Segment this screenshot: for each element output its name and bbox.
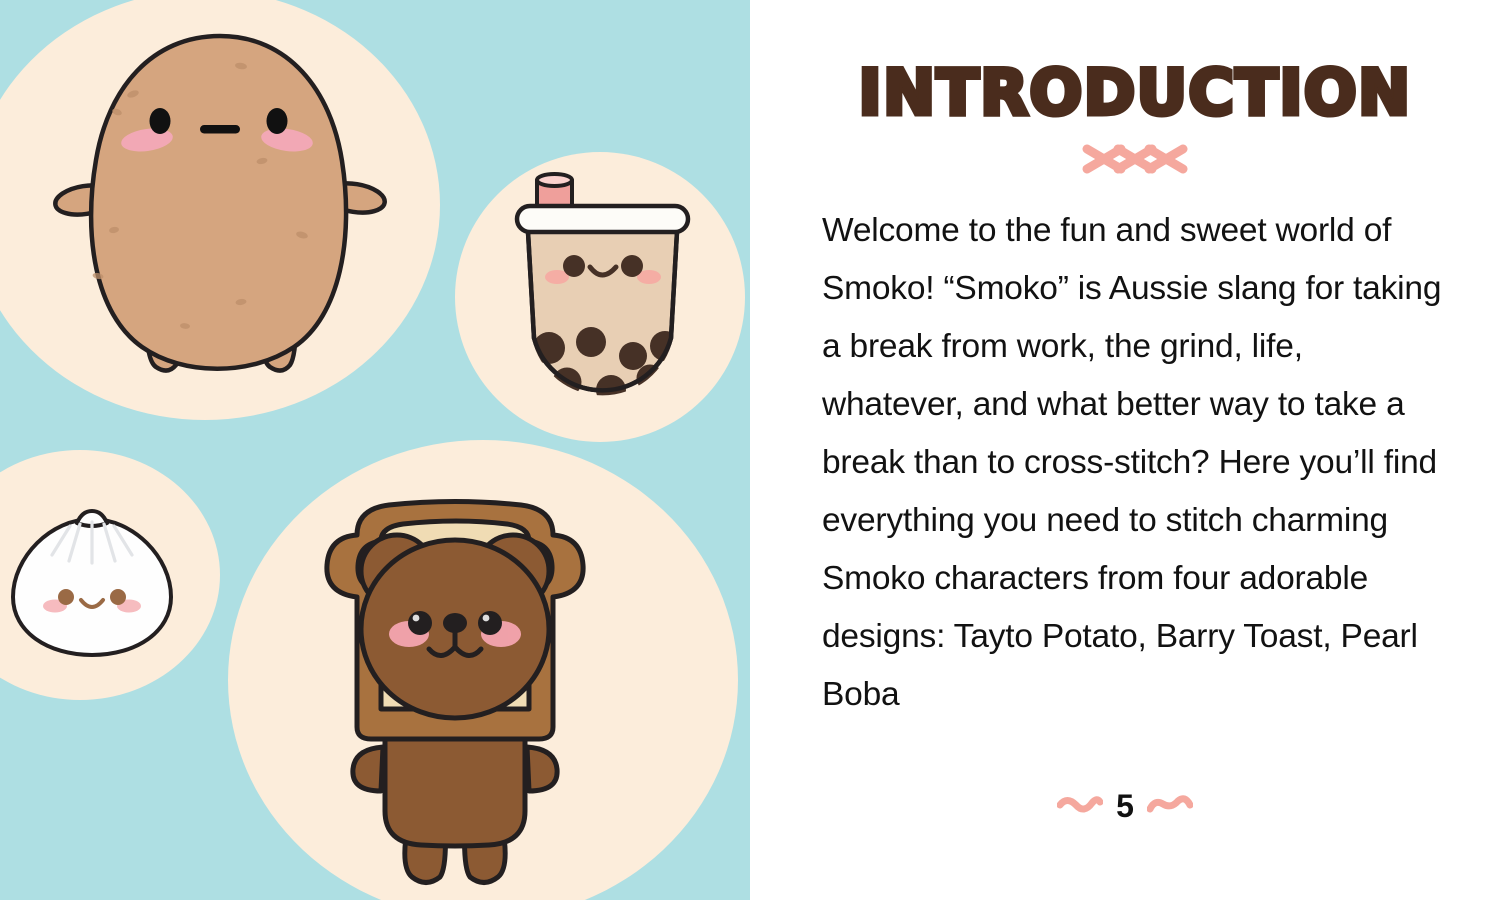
potato-character-icon (55, 30, 385, 400)
page-title: INTRODUCTION (822, 62, 1448, 124)
left-squiggle-icon (1057, 795, 1103, 817)
cross-stitch-xxx-motif-icon (1080, 142, 1190, 176)
introduction-paragraph: Welcome to the fun and sweet world of Sm… (822, 202, 1448, 724)
boba-tea-character-icon (505, 170, 700, 420)
page-number: 5 (1116, 790, 1134, 822)
toast-bear-character-icon (305, 495, 605, 885)
page-footer: 5 (750, 790, 1500, 822)
dumpling-character-icon (5, 505, 180, 660)
right-squiggle-icon (1147, 795, 1193, 817)
illustration-panel (0, 0, 750, 900)
text-panel: INTRODUCTION Welcome to the fun and swee… (750, 0, 1500, 900)
book-spread-page: INTRODUCTION Welcome to the fun and swee… (0, 0, 1500, 900)
